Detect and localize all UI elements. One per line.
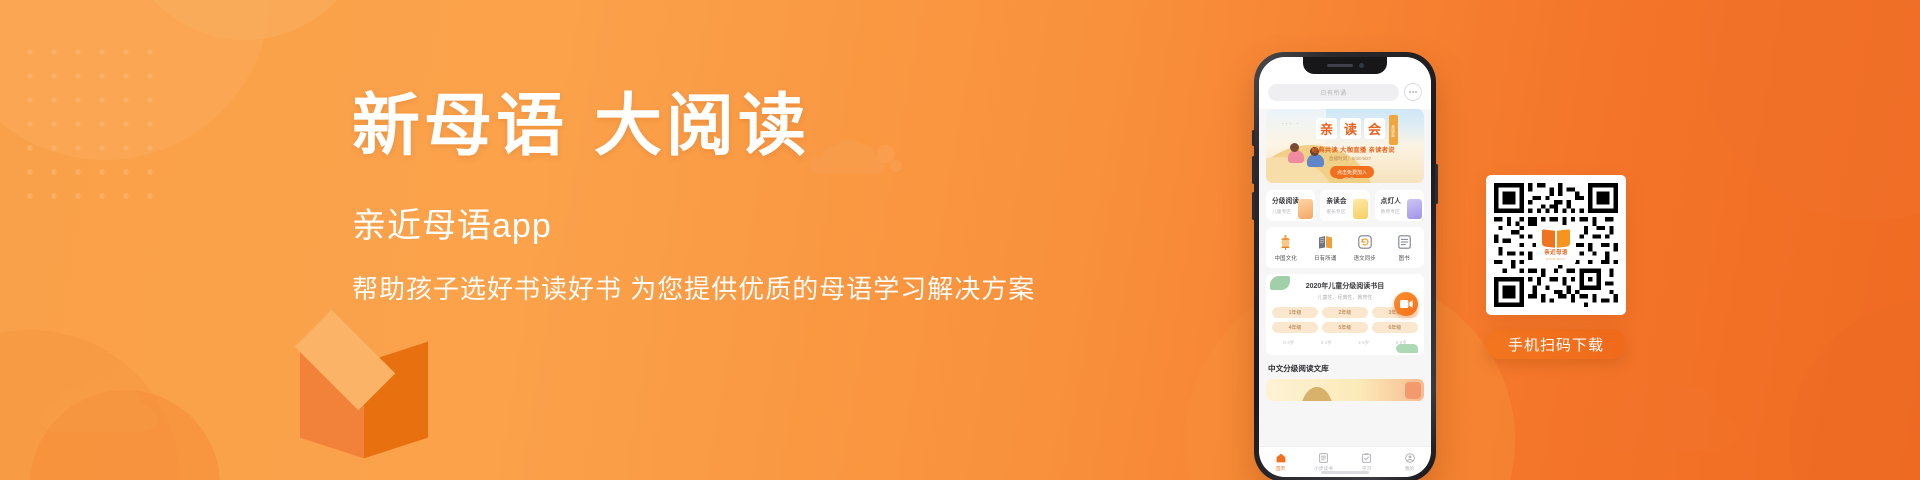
age-pill[interactable]: 3-4岁 xyxy=(1310,338,1344,347)
grade-pill[interactable]: 1年级 xyxy=(1272,307,1318,318)
tab-home[interactable]: 首页 xyxy=(1259,452,1302,472)
open-book-logo-icon: 亲近母语 QINJIN MUYU xyxy=(1536,225,1576,265)
search-input[interactable]: 日有所诵 xyxy=(1268,84,1399,101)
promo-birds-icon: ··· · xyxy=(1282,121,1300,127)
search-placeholder: 日有所诵 xyxy=(1320,88,1346,97)
decorative-cloud-icon-2 xyxy=(40,370,170,444)
hero-text-block: 新母语大阅读 亲近母语app 帮助孩子选好书读好书 为您提供优质的母语学习解决方… xyxy=(352,92,1012,307)
phone-power-button xyxy=(1435,164,1438,204)
clipboard-icon xyxy=(1361,452,1372,463)
bookmark-yellow-icon xyxy=(1353,199,1368,219)
decorative-circle-bottom-right xyxy=(1790,300,1920,480)
tab-label: 首页 xyxy=(1276,466,1285,472)
book-logo-shape xyxy=(1542,230,1570,247)
promo-title: 亲 读 会 xyxy=(1316,118,1385,139)
qr-code-card[interactable]: 亲近母语 QINJIN MUYU xyxy=(1486,175,1626,315)
qr-code-matrix: 亲近母语 QINJIN MUYU xyxy=(1494,183,1618,307)
promo-child-1-head xyxy=(1290,143,1299,152)
library-section-title: 中文分级阅读文库 xyxy=(1268,363,1431,374)
entry-card-row: 分级阅读 儿童专区 亲读会 家长专区 点灯人 教师专区 xyxy=(1266,190,1424,221)
entry-card-graded-reading[interactable]: 分级阅读 儿童专区 xyxy=(1266,190,1315,221)
reading-icon xyxy=(1318,452,1329,463)
entry-card-parent-club[interactable]: 亲读会 家长专区 xyxy=(1320,190,1369,221)
more-dots-icon[interactable] xyxy=(1404,83,1422,101)
decorative-circle-bottom-left-2 xyxy=(30,390,220,480)
app-search-row: 日有所诵 xyxy=(1259,79,1431,109)
booklist-title: 2020年儿童分级阅读书目 xyxy=(1272,281,1418,291)
promo-date: 直播时间：9/16-9/27 xyxy=(1329,156,1371,162)
tab-reading[interactable]: 小步读书 xyxy=(1302,452,1345,472)
library-card[interactable] xyxy=(1266,379,1424,401)
quick-icon-label: 语文同步 xyxy=(1354,254,1376,262)
library-card-arc xyxy=(1300,387,1334,401)
age-pill[interactable]: 0-3岁 xyxy=(1272,338,1306,347)
quick-icon-label: 图书 xyxy=(1399,254,1410,262)
phone-screen-frame: 日有所诵 ··· · 亲 xyxy=(1259,57,1431,477)
promo-title-char-3: 会 xyxy=(1364,118,1385,139)
phone-mute-switch xyxy=(1252,130,1255,146)
decorative-dot-grid xyxy=(18,40,158,215)
phone-volume-up-button xyxy=(1252,156,1255,184)
sync-icon xyxy=(1357,234,1372,250)
entry-card-teacher-zone[interactable]: 点灯人 教师专区 xyxy=(1375,190,1424,221)
home-indicator xyxy=(1321,471,1369,474)
library-card-thumb xyxy=(1405,382,1421,399)
grade-pill[interactable]: 5年级 xyxy=(1322,322,1368,333)
front-camera-icon xyxy=(1359,63,1364,68)
tab-profile[interactable]: 我的 xyxy=(1388,452,1431,472)
promo-child-1 xyxy=(1288,150,1304,163)
tab-label: 我的 xyxy=(1405,466,1414,472)
decorative-circle-bottom-left xyxy=(0,330,180,480)
qr-download-block: 亲近母语 QINJIN MUYU 手机扫码下载 xyxy=(1486,175,1626,359)
headline-part-1: 新母语 xyxy=(352,88,568,164)
grade-pill[interactable]: 4年级 xyxy=(1272,322,1318,333)
promo-child-2 xyxy=(1307,154,1324,167)
open-book-icon xyxy=(1318,234,1333,250)
promo-ribbon: 亲读会 xyxy=(1389,115,1398,145)
promo-banner: 新母语大阅读 亲近母语app 帮助孩子选好书读好书 为您提供优质的母语学习解决方… xyxy=(0,0,1920,480)
earpiece-speaker-icon xyxy=(1327,64,1353,67)
grade-pill[interactable]: 6年级 xyxy=(1372,322,1418,333)
booklist-section: 2020年儿童分级阅读书目 儿童性、经典性、教育性 1年级 2年级 3年级 4年… xyxy=(1266,274,1424,355)
phone-notch xyxy=(1303,57,1387,74)
tagline: 帮助孩子选好书读好书 为您提供优质的母语学习解决方案 xyxy=(352,273,1012,307)
profile-icon xyxy=(1404,452,1415,463)
headline-part-2: 大阅读 xyxy=(594,88,810,164)
promo-title-char-1: 亲 xyxy=(1316,118,1337,139)
decorative-cloud-icon-3 xyxy=(1585,372,1755,458)
promo-carousel-dots[interactable] xyxy=(1337,177,1353,179)
phone-mockup: 日有所诵 ··· · 亲 xyxy=(1254,52,1436,480)
download-button[interactable]: 手机扫码下载 xyxy=(1486,329,1626,359)
tab-study[interactable]: 学习 xyxy=(1345,452,1388,472)
app-screen: 日有所诵 ··· · 亲 xyxy=(1259,57,1431,477)
home-icon xyxy=(1275,452,1286,463)
phone-volume-down-button xyxy=(1252,192,1255,220)
quick-icon-label: 日有所诵 xyxy=(1314,254,1336,262)
bookmark-red-icon xyxy=(1298,199,1313,219)
book-icon xyxy=(1397,234,1412,250)
decorative-circle-top-right xyxy=(1700,0,1920,220)
app-promo-banner[interactable]: ··· · 亲 读 会 亲读会 经典共读 大咖直播 亲读者说 直播时间：9/16… xyxy=(1266,109,1424,183)
quick-icon-chinese-culture[interactable]: 中国文化 xyxy=(1266,234,1306,262)
decorative-circle-top-left xyxy=(0,0,270,160)
promo-title-char-2: 读 xyxy=(1340,118,1361,139)
qr-logo-title: 亲近母语 xyxy=(1544,248,1568,256)
promo-subtitle: 经典共读 大咖直播 亲读者说 xyxy=(1312,145,1395,154)
headline: 新母语大阅读 xyxy=(352,92,1012,160)
grade-pill[interactable]: 2年级 xyxy=(1322,307,1368,318)
quick-icon-label: 中国文化 xyxy=(1275,254,1297,262)
quick-icon-chinese-sync[interactable]: 语文同步 xyxy=(1345,234,1385,262)
people-purple-icon xyxy=(1407,199,1422,219)
age-pill[interactable]: 4-5岁 xyxy=(1347,338,1381,347)
quick-icon-row: 中国文化 日有所诵 xyxy=(1266,227,1424,268)
age-pill-row: 0-3岁 3-4岁 4-5岁 5-6岁 xyxy=(1272,338,1418,347)
subtitle: 亲近母语app xyxy=(352,206,1012,247)
quick-icon-books[interactable]: 图书 xyxy=(1385,234,1425,262)
qr-logo-subtitle: QINJIN MUYU xyxy=(1546,257,1566,261)
lantern-icon xyxy=(1278,234,1293,250)
age-pill[interactable]: 5-6岁 xyxy=(1385,338,1419,347)
quick-icon-daily-recite[interactable]: 日有所诵 xyxy=(1306,234,1346,262)
video-play-icon[interactable] xyxy=(1394,292,1418,316)
decorative-circle-top-left-2 xyxy=(120,0,370,40)
